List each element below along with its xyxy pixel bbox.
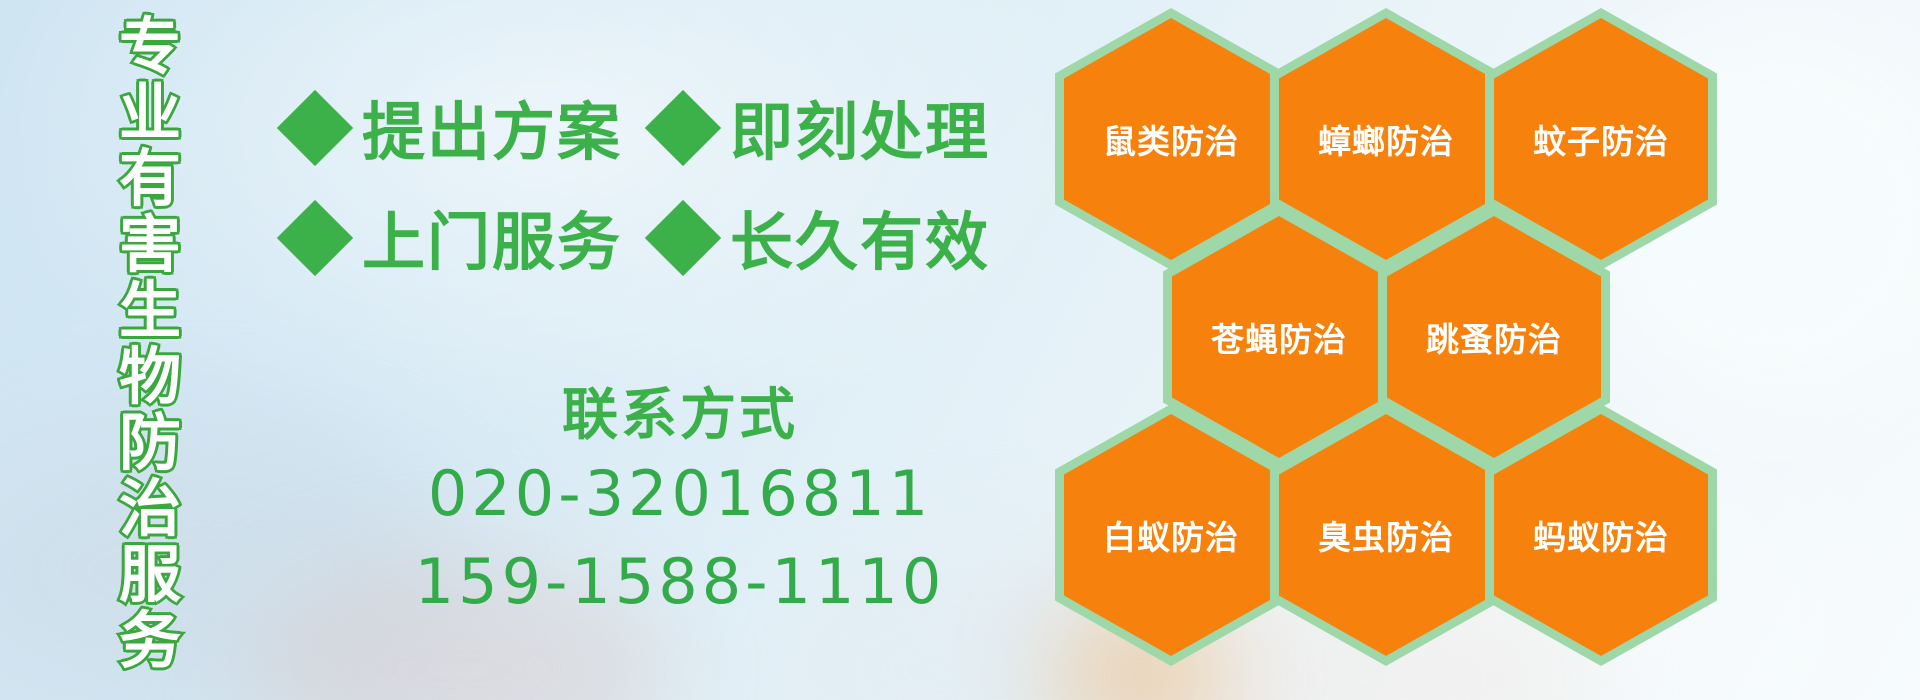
vertical-headline-char: 害 [119,212,181,278]
feature-item-long-lasting: 长久有效 [656,192,990,283]
hex-label: 白蚁防治 [1103,511,1239,559]
feature-row: 上门服务 长久有效 [288,192,990,283]
feature-row: 提出方案 即刻处理 [288,82,990,173]
feature-label: 即刻处理 [730,82,990,173]
feature-label: 提出方案 [362,82,622,173]
service-hexagon-grid: 鼠类防治 蟑螂防治 蚊子防治 苍蝇防治 跳蚤防治 白蚁防治 臭虫防治 [1055,0,1855,700]
contact-heading: 联系方式 [360,382,1000,450]
diamond-icon [645,199,721,275]
vertical-headline-char: 生 [119,278,181,344]
hex-label: 蟑螂防治 [1318,115,1454,163]
vertical-headline-char: 治 [119,476,181,542]
pest-control-banner: 专 业 有 害 生 物 防 治 服 务 提出方案 即刻处理 上门服务 长久有效 [0,0,1920,700]
diamond-icon [277,199,353,275]
diamond-icon [277,89,353,165]
vertical-headline-char: 服 [119,542,181,608]
vertical-headline-char: 防 [119,410,181,476]
vertical-headline: 专 业 有 害 生 物 防 治 服 务 [104,14,196,686]
feature-item-immediate-handling: 即刻处理 [656,82,990,173]
vertical-headline-char: 业 [119,80,181,146]
contact-phone-landline[interactable]: 020-32016811 [360,450,1000,538]
hex-label: 蚂蚁防治 [1533,511,1669,559]
feature-item-onsite-service: 上门服务 [288,192,622,283]
vertical-headline-char: 专 [119,14,181,80]
hex-label: 苍蝇防治 [1211,313,1347,361]
feature-item-propose-plan: 提出方案 [288,82,622,173]
contact-block: 联系方式 020-32016811 159-1588-1110 [360,382,1000,626]
hex-label: 跳蚤防治 [1426,313,1562,361]
diamond-icon [645,89,721,165]
contact-phone-mobile[interactable]: 159-1588-1110 [360,538,1000,626]
vertical-headline-char: 有 [119,146,181,212]
vertical-headline-char: 物 [119,344,181,410]
hex-label: 蚊子防治 [1533,115,1669,163]
hex-label: 臭虫防治 [1318,511,1454,559]
hex-label: 鼠类防治 [1103,115,1239,163]
feature-label: 上门服务 [362,192,622,283]
feature-label: 长久有效 [730,192,990,283]
vertical-headline-char: 务 [119,608,181,674]
